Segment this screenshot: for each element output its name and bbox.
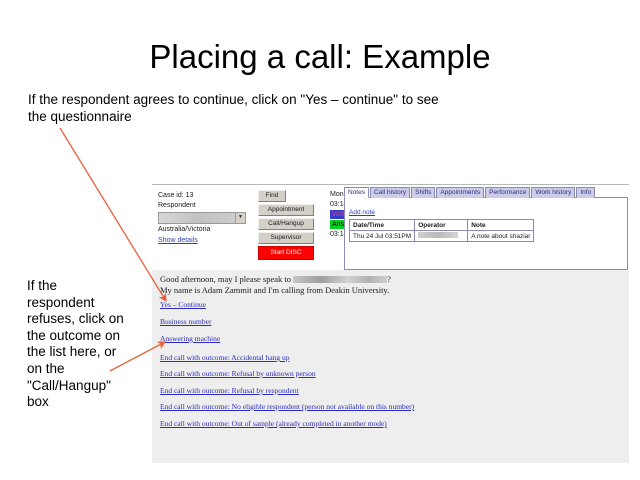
- action-button-stack: Find Appointment Call/Hangup Supervisor …: [258, 190, 320, 260]
- redaction-bar-name2: [371, 276, 387, 283]
- outcome-link-answering-machine[interactable]: Answering machine: [160, 334, 220, 343]
- tab-call-history[interactable]: Call history: [370, 187, 410, 198]
- tab-performance[interactable]: Performance: [485, 187, 530, 198]
- start-disc-button[interactable]: Start DISC: [258, 246, 314, 260]
- notes-table: Date/Time Operator Note Thu 24 Jul 03:51…: [349, 219, 534, 242]
- tab-body-notes: Add note Date/Time Operator Note Thu 24 …: [344, 197, 628, 270]
- tab-work-history[interactable]: Work history: [531, 187, 575, 198]
- redaction-bar-name: [293, 276, 371, 283]
- tab-panel: Notes Call history Shifts Appointments P…: [344, 187, 628, 271]
- outcome-link-accidental-hang-up[interactable]: End call with outcome: Accidental hang u…: [160, 353, 290, 362]
- cell-note: A note about shaziar: [468, 231, 534, 242]
- tab-strip: Notes Call history Shifts Appointments P…: [344, 187, 628, 198]
- tab-shifts[interactable]: Shifts: [411, 187, 435, 198]
- app-top-region: Case id: 13 Respondent ▼ Australia/Victo…: [152, 185, 629, 270]
- appointment-button[interactable]: Appointment: [258, 204, 314, 216]
- outcome-link-refusal-by-respondent[interactable]: End call with outcome: Refusal by respon…: [160, 386, 299, 395]
- arrow-top: [60, 128, 166, 301]
- column-header-datetime: Date/Time: [350, 220, 415, 231]
- script-and-outcomes-region: Good afternoon, may I please speak to ? …: [152, 270, 629, 463]
- table-row[interactable]: Thu 24 Jul 03:51PM A note about shaziar: [350, 231, 534, 242]
- outcome-link-no-eligible-respondent[interactable]: End call with outcome: No eligible respo…: [160, 402, 414, 411]
- respondent-dropdown[interactable]: ▼: [158, 212, 246, 224]
- tab-info[interactable]: Info: [576, 187, 595, 198]
- call-script-text: Good afternoon, may I please speak to ? …: [160, 274, 490, 296]
- chevron-down-icon: ▼: [235, 213, 245, 223]
- respondent-label: Respondent: [158, 201, 254, 211]
- case-id-label: Case id: 13: [158, 191, 254, 201]
- cell-datetime: Thu 24 Jul 03:51PM: [350, 231, 415, 242]
- outcome-link-business-number[interactable]: Business number: [160, 317, 211, 326]
- outcome-link-yes-continue[interactable]: Yes – Continue: [160, 300, 206, 309]
- script-line2: My name is Adam Zammit and I'm calling f…: [160, 285, 490, 296]
- geography-label: Australia/Victoria: [158, 225, 254, 235]
- call-hangup-button[interactable]: Call/Hangup: [258, 218, 314, 230]
- find-button[interactable]: Find: [258, 190, 286, 202]
- page-title: Placing a call: Example: [0, 38, 640, 76]
- script-line1-suffix: ?: [387, 274, 391, 284]
- cell-operator-redacted: [415, 231, 468, 242]
- add-note-link[interactable]: Add note: [349, 209, 375, 216]
- redaction-bar: [418, 232, 458, 238]
- tab-notes[interactable]: Notes: [344, 187, 369, 198]
- script-line1-prefix: Good afternoon, may I please speak to: [160, 274, 293, 284]
- embedded-application-screenshot: Case id: 13 Respondent ▼ Australia/Victo…: [152, 184, 629, 463]
- supervisor-button[interactable]: Supervisor: [258, 232, 314, 244]
- column-header-operator: Operator: [415, 220, 468, 231]
- case-info-block: Case id: 13 Respondent ▼ Australia/Victo…: [158, 191, 254, 246]
- show-details-link[interactable]: Show details: [158, 236, 198, 246]
- caption-left-text: If the respondent refuses, click on the …: [27, 278, 125, 411]
- table-header-row: Date/Time Operator Note: [350, 220, 534, 231]
- outcome-link-out-of-sample[interactable]: End call with outcome: Out of sample (al…: [160, 419, 387, 428]
- caption-top-text: If the respondent agrees to continue, cl…: [28, 91, 458, 125]
- outcome-link-refusal-unknown-person[interactable]: End call with outcome: Refusal by unknow…: [160, 369, 316, 378]
- column-header-note: Note: [468, 220, 534, 231]
- tab-appointments[interactable]: Appointments: [436, 187, 484, 198]
